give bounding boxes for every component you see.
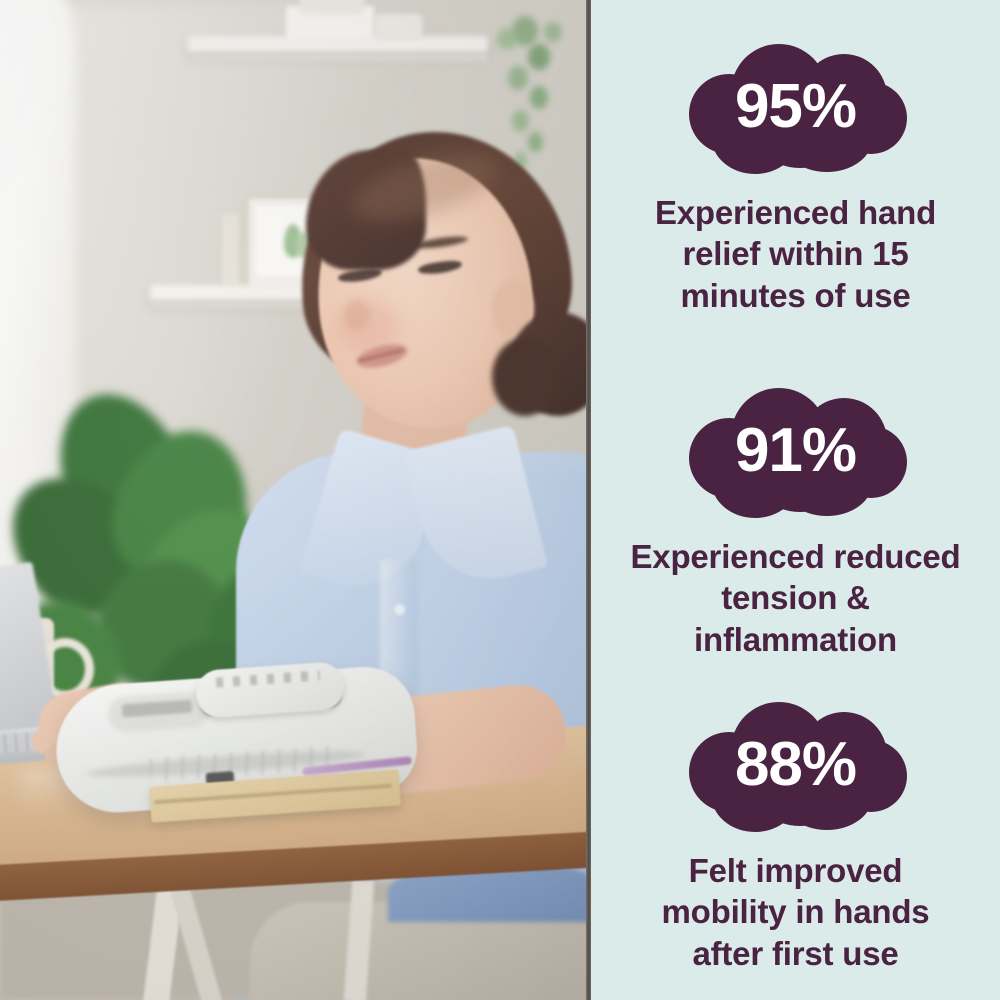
stat-caption-3: Felt improved mobility in hands after fi…	[616, 850, 976, 974]
photo-vignette	[0, 0, 586, 1000]
stat-value-1: 95%	[685, 44, 907, 172]
stat-caption-2: Experienced reduced tension & inflammati…	[616, 536, 976, 660]
cloud-badge-1: 95%	[685, 44, 907, 172]
stat-block-3: 88% Felt improved mobility in hands afte…	[591, 702, 1000, 974]
cloud-badge-3: 88%	[685, 702, 907, 830]
stat-value-2: 91%	[685, 388, 907, 516]
stats-panel: 95% Experienced hand relief within 15 mi…	[591, 0, 1000, 1000]
stat-block-1: 95% Experienced hand relief within 15 mi…	[591, 44, 1000, 316]
cloud-badge-2: 91%	[685, 388, 907, 516]
stat-block-2: 91% Experienced reduced tension & inflam…	[591, 388, 1000, 660]
stat-caption-1: Experienced hand relief within 15 minute…	[616, 192, 976, 316]
promo-poster: 95% Experienced hand relief within 15 mi…	[0, 0, 1000, 1000]
stat-value-3: 88%	[685, 702, 907, 830]
product-lifestyle-photo	[0, 0, 586, 1000]
